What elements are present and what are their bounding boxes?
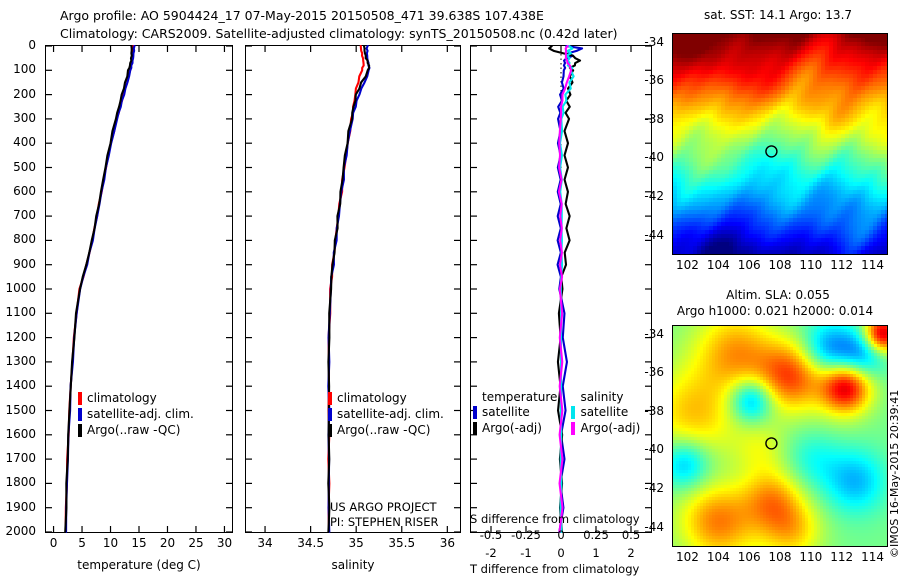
legend-group-header: salinity (580, 390, 640, 404)
longitude-tick-label: 106 (738, 550, 761, 564)
depth-tick-label: 800 (13, 232, 36, 246)
t-diff-tick-label: 0 (557, 546, 564, 560)
legend-color-swatch (328, 424, 332, 437)
legend-color-swatch (571, 406, 575, 419)
longitude-tick-label: 102 (676, 258, 699, 272)
depth-tick-label: 1700 (5, 451, 36, 465)
x-tick-label: 20 (160, 536, 175, 550)
sla-map-title-line2: Argo h1000: 0.021 h2000: 0.014 (650, 304, 900, 318)
latitude-tick-label: -40 (644, 442, 664, 456)
depth-tick-label: 400 (13, 135, 36, 149)
depth-tick-label: 500 (13, 160, 36, 174)
latitude-tick-label: -34 (644, 327, 664, 341)
legend-column: salinitysatelliteArgo(-adj) (571, 390, 640, 436)
legend-label: satellite (482, 405, 530, 419)
legend-item: Argo(-adj) (571, 420, 640, 436)
s-diff-tick-label: 0.25 (583, 528, 609, 542)
legend-item: climatology (78, 390, 194, 406)
sst-map-yticks: -34-36-38-40-42-44 (636, 33, 670, 255)
latitude-tick-label: -44 (644, 520, 664, 534)
longitude-tick-label: 110 (799, 550, 822, 564)
longitude-tick-label: 114 (861, 258, 884, 272)
legend-color-swatch (328, 392, 332, 405)
page-title-line2: Climatology: CARS2009. Satellite-adjuste… (60, 26, 617, 41)
temperature-plot (45, 45, 233, 533)
legend-color-swatch (78, 392, 82, 405)
longitude-tick-label: 106 (738, 258, 761, 272)
longitude-tick-label: 102 (676, 550, 699, 564)
depth-tick-label: 600 (13, 184, 36, 198)
latitude-tick-label: -38 (644, 404, 664, 418)
salinity-plot (245, 45, 461, 533)
depth-tick-label: 2000 (5, 524, 36, 538)
x-tick-label: 15 (131, 536, 146, 550)
latitude-tick-label: -36 (644, 73, 664, 87)
t-diff-tick-label: 1 (592, 546, 599, 560)
x-tick-label: 0 (50, 536, 58, 550)
temperature-axis-label: temperature (deg C) (45, 558, 233, 572)
legend-color-swatch (328, 408, 332, 421)
sla-map-xticks: 102104106108110112114 (672, 550, 888, 566)
legend-color-swatch (571, 422, 575, 435)
s-difference-axis-label: S difference from climatology (470, 512, 640, 526)
salinity-axis-label: salinity (245, 558, 461, 572)
x-tick-label: 34.5 (297, 536, 324, 550)
sst-map-xticks: 102104106108110112114 (672, 258, 888, 274)
legend-group-header: temperature (482, 390, 557, 404)
x-tick-label: 35.5 (388, 536, 415, 550)
temperature-legend: climatologysatellite-adj. clim.Argo(..ra… (78, 390, 194, 438)
imos-watermark: ©IMOS 16-May-2015 20:39:41 (888, 390, 900, 558)
longitude-tick-label: 110 (799, 258, 822, 272)
legend-label: satellite (580, 405, 628, 419)
depth-tick-label: 1600 (5, 427, 36, 441)
argo-pi-credit: PI: STEPHEN RISER (330, 515, 439, 529)
t-diff-tick-label: 2 (627, 546, 634, 560)
longitude-tick-label: 114 (861, 550, 884, 564)
latitude-tick-label: -42 (644, 189, 664, 203)
legend-color-swatch (78, 408, 82, 421)
x-tick-label: 10 (103, 536, 118, 550)
legend-item: satellite-adj. clim. (78, 406, 194, 422)
s-difference-xticks: -0.5-0.2500.250.5 (470, 528, 652, 544)
depth-tick-label: 100 (13, 62, 36, 76)
latitude-tick-label: -40 (644, 150, 664, 164)
longitude-tick-label: 104 (707, 550, 730, 564)
legend-column: temperaturesatelliteArgo(-adj) (473, 390, 557, 436)
sla-map-marker-layer (673, 326, 887, 546)
legend-item: Argo(..raw -QC) (328, 422, 444, 438)
depth-tick-label: 900 (13, 257, 36, 271)
s-diff-tick-label: -0.25 (511, 528, 541, 542)
x-tick-label: 5 (78, 536, 86, 550)
legend-label: climatology (337, 391, 407, 405)
difference-plot (470, 45, 652, 533)
depth-tick-label: 1200 (5, 330, 36, 344)
s-diff-tick-label: -0.5 (480, 528, 502, 542)
legend-label: Argo(-adj) (580, 421, 640, 435)
legend-label: satellite-adj. clim. (337, 407, 444, 421)
longitude-tick-label: 104 (707, 258, 730, 272)
legend-item: climatology (328, 390, 444, 406)
sst-map-marker-layer (673, 34, 887, 254)
latitude-tick-label: -38 (644, 112, 664, 126)
depth-tick-label: 1500 (5, 403, 36, 417)
longitude-tick-label: 108 (769, 258, 792, 272)
temperature-yticks: 0100200300400500600700800900100011001200… (0, 45, 42, 533)
page-title-line1: Argo profile: AO 5904424_17 07-May-2015 … (60, 8, 544, 23)
depth-tick-label: 200 (13, 87, 36, 101)
salinity-legend: climatologysatellite-adj. clim.Argo(..ra… (328, 390, 444, 438)
x-tick-label: 35 (349, 536, 364, 550)
longitude-tick-label: 112 (830, 258, 853, 272)
depth-tick-label: 1400 (5, 378, 36, 392)
depth-tick-label: 1100 (5, 305, 36, 319)
depth-tick-label: 300 (13, 111, 36, 125)
t-diff-tick-label: -1 (520, 546, 531, 560)
latitude-tick-label: -34 (644, 35, 664, 49)
latitude-tick-label: -44 (644, 228, 664, 242)
legend-label: Argo(..raw -QC) (337, 423, 430, 437)
legend-color-swatch (78, 424, 82, 437)
argo-project-credit: US ARGO PROJECT (330, 500, 437, 514)
legend-label: Argo(..raw -QC) (87, 423, 180, 437)
legend-label: satellite-adj. clim. (87, 407, 194, 421)
sla-map-yticks: -34-36-38-40-42-44 (636, 325, 670, 547)
latitude-tick-label: -36 (644, 365, 664, 379)
x-tick-label: 34 (257, 536, 272, 550)
t-difference-xticks: -2-1012 (470, 546, 652, 562)
legend-item: satellite (473, 404, 557, 420)
legend-item: Argo(..raw -QC) (78, 422, 194, 438)
depth-tick-label: 1900 (5, 500, 36, 514)
sst-map-title: sat. SST: 14.1 Argo: 13.7 (668, 8, 888, 22)
legend-item: Argo(-adj) (473, 420, 557, 436)
s-diff-tick-label: 0 (557, 528, 564, 542)
x-tick-label: 36 (440, 536, 455, 550)
longitude-tick-label: 112 (830, 550, 853, 564)
depth-tick-label: 0 (28, 38, 36, 52)
legend-item: satellite-adj. clim. (328, 406, 444, 422)
depth-tick-label: 1300 (5, 354, 36, 368)
x-tick-label: 30 (217, 536, 232, 550)
depth-tick-label: 700 (13, 208, 36, 222)
x-tick-label: 25 (188, 536, 203, 550)
legend-color-swatch (473, 422, 477, 435)
t-diff-tick-label: -2 (485, 546, 496, 560)
legend-item: satellite (571, 404, 640, 420)
legend-color-swatch (473, 406, 477, 419)
legend-label: climatology (87, 391, 157, 405)
latitude-tick-label: -42 (644, 481, 664, 495)
sla-map-title-line1: Altim. SLA: 0.055 (668, 288, 888, 302)
depth-tick-label: 1000 (5, 281, 36, 295)
depth-tick-label: 1800 (5, 475, 36, 489)
salinity-xticks: 3434.53535.536 (245, 536, 461, 554)
longitude-tick-label: 108 (769, 550, 792, 564)
difference-legend: temperaturesatelliteArgo(-adj)salinitysa… (473, 390, 651, 436)
t-difference-axis-label: T difference from climatology (470, 562, 639, 576)
temperature-xticks: 051015202530 (45, 536, 233, 554)
legend-label: Argo(-adj) (482, 421, 542, 435)
